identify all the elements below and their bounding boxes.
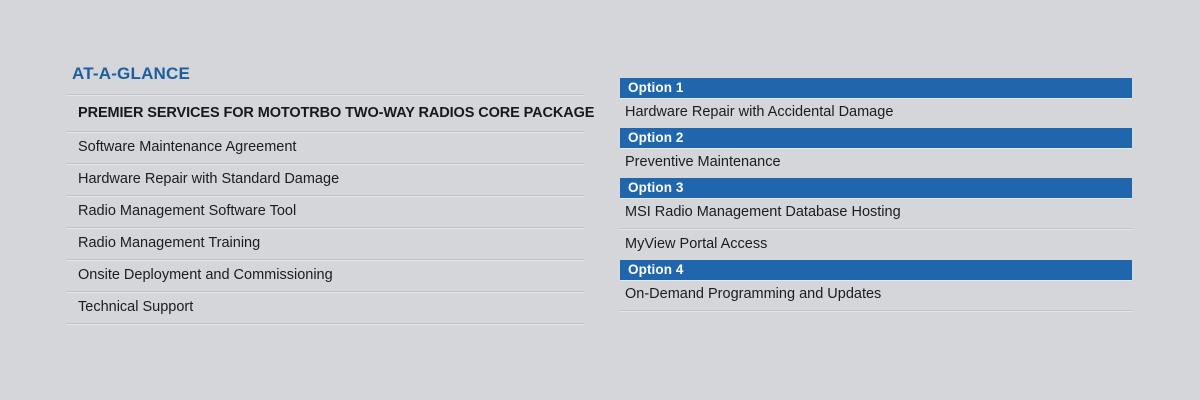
list-item: Radio Management Software Tool <box>66 197 584 227</box>
list-item: Hardware Repair with Accidental Damage <box>620 98 1132 128</box>
option-header: Option 3 <box>620 178 1132 198</box>
core-package-header: PREMIER SERVICES FOR MOTOTRBO TWO-WAY RA… <box>66 96 584 131</box>
list-item: MyView Portal Access <box>620 230 1132 260</box>
option-header: Option 1 <box>620 78 1132 98</box>
divider <box>620 310 1132 312</box>
list-item: Preventive Maintenance <box>620 148 1132 178</box>
at-a-glance-page: AT-A-GLANCE PREMIER SERVICES FOR MOTOTRB… <box>0 0 1200 400</box>
core-package-column: AT-A-GLANCE PREMIER SERVICES FOR MOTOTRB… <box>66 64 584 325</box>
list-item: Hardware Repair with Standard Damage <box>66 165 584 195</box>
option-header: Option 4 <box>620 260 1132 280</box>
options-column: Option 1 Hardware Repair with Accidental… <box>620 78 1132 312</box>
option-header: Option 2 <box>620 128 1132 148</box>
list-item: Software Maintenance Agreement <box>66 133 584 163</box>
list-item: MSI Radio Management Database Hosting <box>620 198 1132 228</box>
list-item: Radio Management Training <box>66 229 584 259</box>
page-title: AT-A-GLANCE <box>66 64 584 84</box>
divider <box>66 323 584 325</box>
list-item: On-Demand Programming and Updates <box>620 280 1132 310</box>
list-item: Onsite Deployment and Commissioning <box>66 261 584 291</box>
list-item: Technical Support <box>66 293 584 323</box>
